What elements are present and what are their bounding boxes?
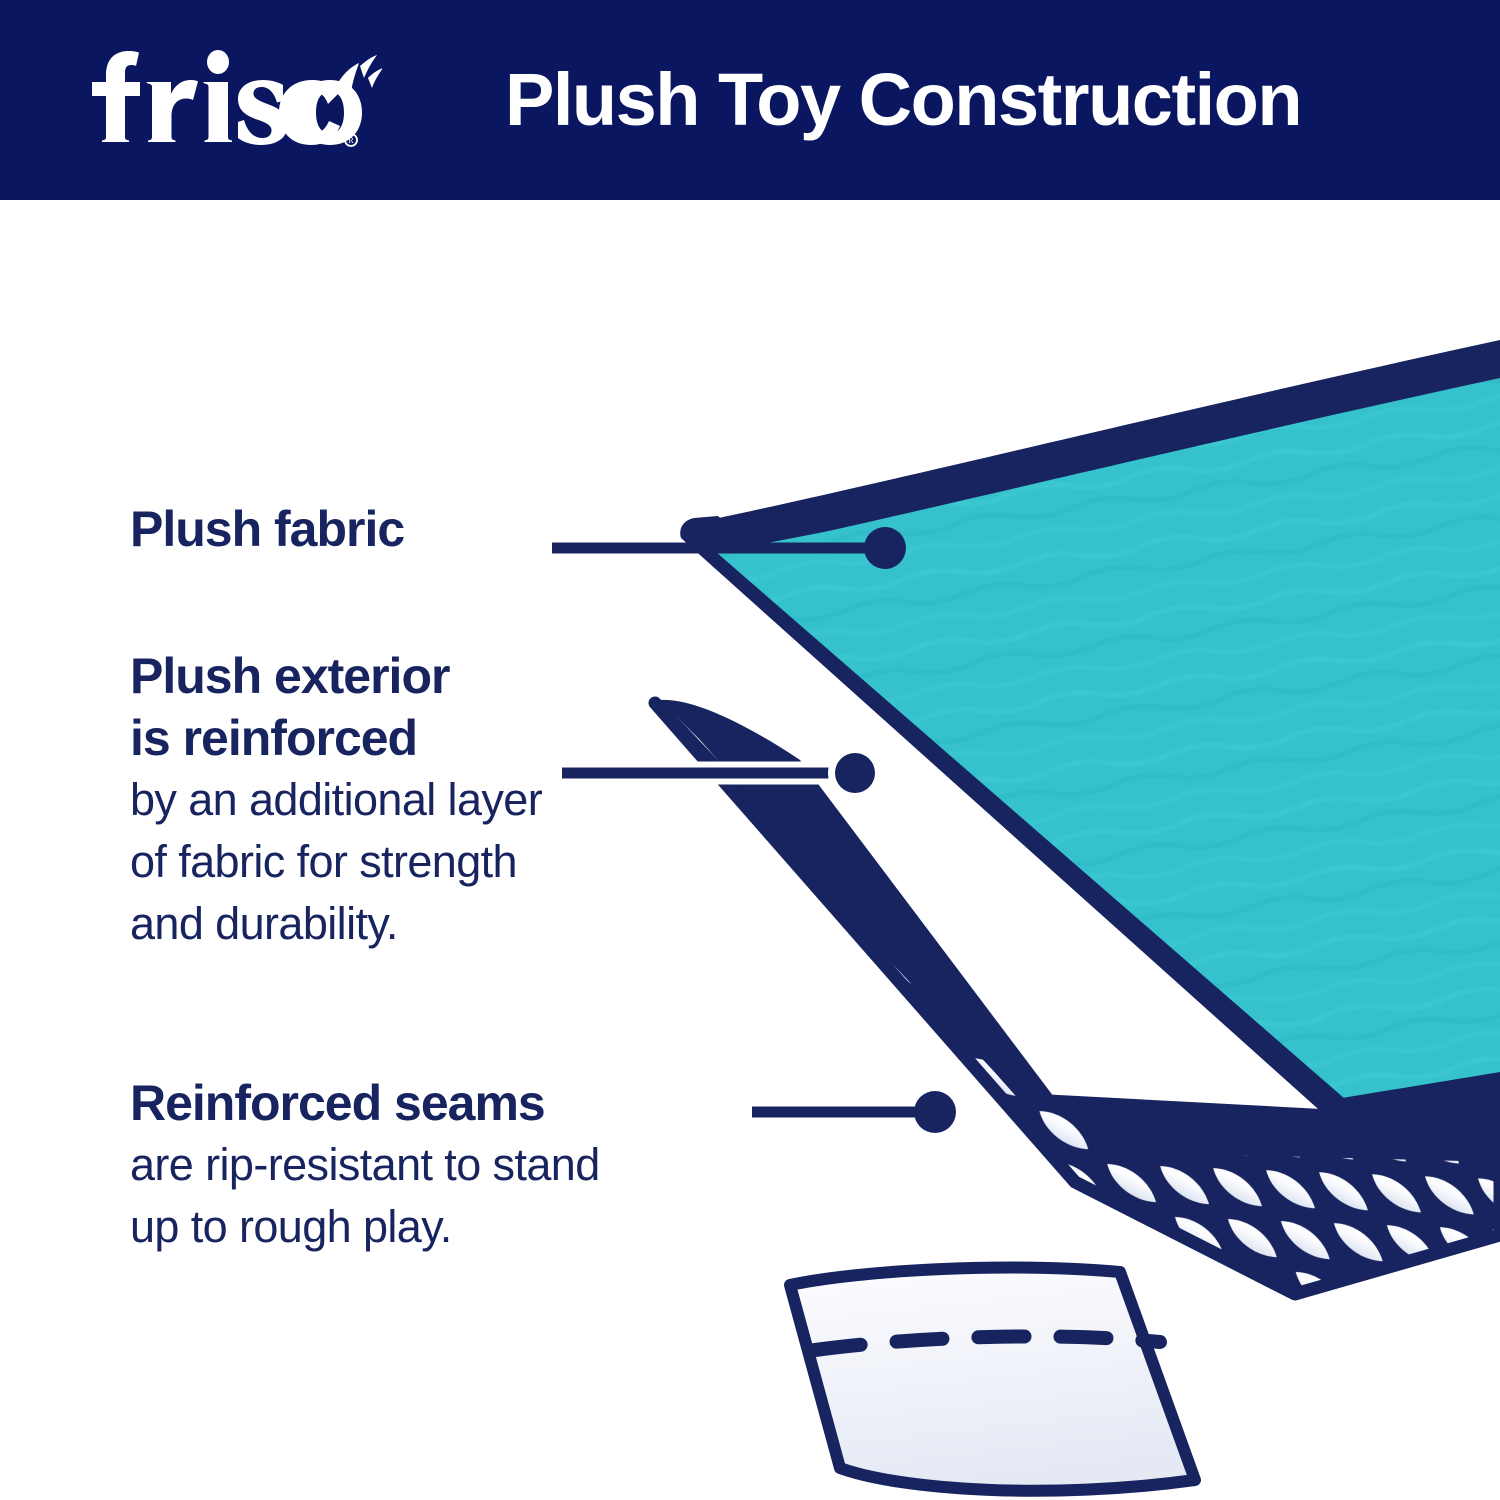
callout-plush-fabric: Plush fabric — [130, 498, 404, 560]
svg-text:R: R — [348, 136, 354, 145]
infographic-page: R Plush Toy Construction — [0, 0, 1500, 1500]
callout-reinforced-seams: Reinforced seams are rip-resistant to st… — [130, 1072, 600, 1258]
callout-body-reinforced-seams-line1: are rip-resistant to stand — [130, 1134, 600, 1196]
header-bar: R Plush Toy Construction — [0, 0, 1500, 200]
frisco-logo: R — [72, 42, 382, 152]
callout-body-plush-exterior-line1: by an additional layer — [130, 769, 542, 831]
page-title: Plush Toy Construction — [505, 50, 1405, 150]
callout-body-reinforced-seams-line2: up to rough play. — [130, 1196, 600, 1258]
seam-flap — [790, 1268, 1195, 1491]
leader-line-seams — [752, 1091, 956, 1133]
callout-plush-exterior: Plush exterior is reinforced by an addit… — [130, 645, 542, 955]
callout-body-plush-exterior-line3: and durability. — [130, 893, 542, 955]
callout-heading-plush-exterior-line1: Plush exterior — [130, 645, 542, 707]
callout-heading-plush-fabric: Plush fabric — [130, 498, 404, 560]
callout-heading-plush-exterior-line2: is reinforced — [130, 707, 542, 769]
callout-body-plush-exterior-line2: of fabric for strength — [130, 831, 542, 893]
plush-fabric-panel — [680, 340, 1500, 1155]
callout-heading-reinforced-seams: Reinforced seams — [130, 1072, 600, 1134]
